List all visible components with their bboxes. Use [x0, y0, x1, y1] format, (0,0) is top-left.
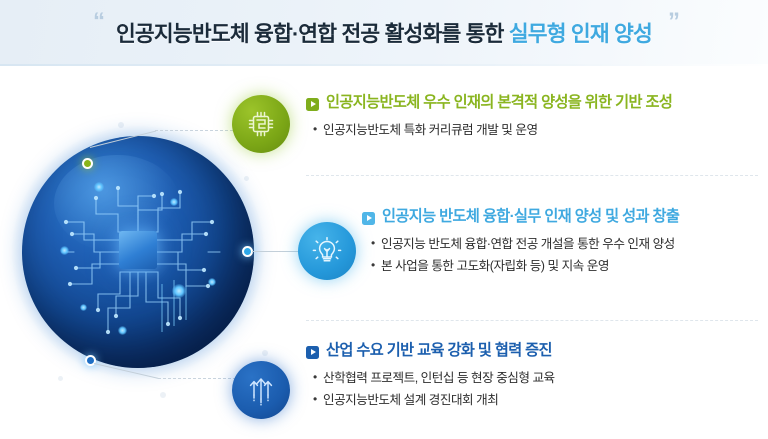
slide-header: “ 인공지능반도체 융합·연합 전공 활성화를 통한 실무형 인재 양성 ”: [0, 0, 768, 64]
section-1: 인공지능반도체 우수 인재의 본격적 양성을 위한 기반 조성 인공지능반도체 …: [306, 93, 764, 141]
sphere-spark: [60, 246, 69, 255]
cpu-chip-icon-circle[interactable]: [232, 95, 290, 153]
page-title: 인공지능반도체 융합·연합 전공 활성화를 통한 실무형 인재 양성: [116, 17, 652, 48]
section-divider-1: [306, 175, 758, 176]
section-2-heading: 인공지능 반도체 융합·실무 인재 양성 및 성과 창출: [382, 207, 679, 227]
decorative-dot: [262, 350, 268, 356]
slide-root: “ 인공지능반도체 융합·연합 전공 활성화를 통한 실무형 인재 양성 ”: [0, 0, 768, 439]
section-1-header: 인공지능반도체 우수 인재의 본격적 양성을 위한 기반 조성: [306, 93, 764, 113]
sphere-spark: [172, 284, 186, 298]
lightbulb-icon: [311, 235, 343, 267]
decorative-dot: [160, 392, 166, 398]
quote-open-icon: “: [93, 10, 105, 34]
list-item: 인공지능 반도체 융합·연합 전공 개설을 통한 우수 인재 양성: [381, 233, 764, 255]
sphere-spark: [94, 182, 104, 192]
list-item: 인공지능반도체 설계 경진대회 개최: [323, 389, 764, 411]
sphere-body: [22, 136, 254, 368]
section-1-heading: 인공지능반도체 우수 인재의 본격적 양성을 위한 기반 조성: [326, 93, 672, 113]
title-accent-text: 실무형 인재 양성: [509, 22, 652, 46]
header-divider: [0, 64, 768, 66]
section-2: 인공지능 반도체 융합·실무 인재 양성 및 성과 창출 인공지능 반도체 융합…: [362, 207, 764, 277]
sphere-spark: [118, 326, 127, 335]
cpu-chip-icon: [245, 108, 277, 140]
section-3-bullets: 산학협력 프로젝트, 인턴십 등 현장 중심형 교육 인공지능반도체 설계 경진…: [306, 367, 764, 411]
connector-line-1b: [155, 130, 233, 131]
sphere-spark: [170, 198, 178, 206]
section-2-bullets: 인공지능 반도체 융합·연합 전공 개설을 통한 우수 인재 양성 본 사업을 …: [362, 233, 764, 277]
sphere-spark: [80, 304, 87, 311]
center-chip-icon: [119, 231, 157, 269]
section-1-bullets: 인공지능반도체 특화 커리큐럼 개발 및 운영: [306, 119, 764, 141]
section-3-header: 산업 수요 기반 교육 강화 및 협력 증진: [306, 341, 764, 361]
sphere-spark: [208, 278, 216, 286]
title-main-text: 인공지능반도체 융합·연합 전공 활성화를 통한: [116, 22, 509, 46]
lightbulb-icon-circle[interactable]: [298, 222, 356, 280]
quote-close-icon: ”: [668, 10, 680, 34]
decorative-dot: [58, 376, 63, 381]
section-divider-2: [306, 320, 758, 321]
section-2-header: 인공지능 반도체 융합·실무 인재 양성 및 성과 창출: [362, 207, 764, 227]
connector-node-3: [85, 355, 96, 366]
section-marker-icon: [306, 98, 319, 111]
header-inner: “ 인공지능반도체 융합·연합 전공 활성화를 통한 실무형 인재 양성 ”: [0, 0, 768, 64]
list-item: 산학협력 프로젝트, 인턴십 등 현장 중심형 교육: [323, 367, 764, 389]
section-marker-icon: [362, 212, 375, 225]
upward-arrows-icon: [245, 373, 277, 407]
list-item: 본 사업을 통한 고도화(자립화 등) 및 지속 운영: [381, 255, 764, 277]
section-3-heading: 산업 수요 기반 교육 강화 및 협력 증진: [326, 341, 552, 361]
list-item: 인공지능반도체 특화 커리큐럼 개발 및 운영: [323, 119, 764, 141]
section-3: 산업 수요 기반 교육 강화 및 협력 증진 산학협력 프로젝트, 인턴십 등 …: [306, 341, 764, 411]
connector-line-3b: [158, 378, 236, 379]
ai-semiconductor-sphere: [22, 136, 254, 368]
connector-line-2: [252, 251, 300, 252]
connector-node-1: [82, 158, 93, 169]
upward-arrows-icon-circle[interactable]: [232, 361, 290, 419]
section-marker-icon: [306, 346, 319, 359]
